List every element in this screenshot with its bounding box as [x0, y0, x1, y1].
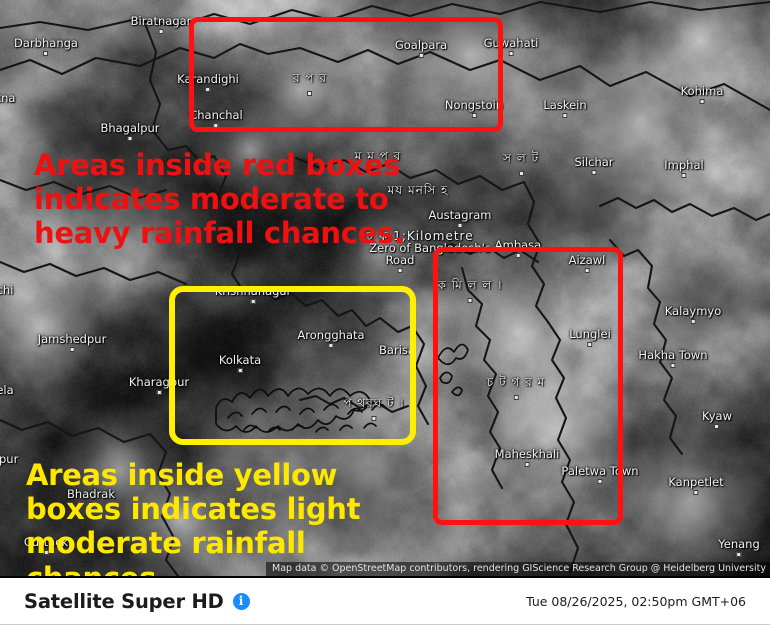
info-icon[interactable]: i	[233, 593, 250, 610]
map-footer-bar: Satellite Super HD i Tue 08/26/2025, 02:…	[0, 576, 770, 625]
page-title: Satellite Super HD	[24, 590, 224, 613]
timestamp-label: Tue 08/26/2025, 02:50pm GMT+06	[526, 594, 770, 609]
footer-left-group: Satellite Super HD i	[0, 590, 526, 613]
yellow-box-legend-annotation: Areas inside yellow boxes indicates ligh…	[26, 458, 426, 576]
red-box-legend-annotation: Areas inside red boxes indicates moderat…	[34, 148, 454, 251]
satellite-map-widget: BiratnagarDarbhangaGoalparaGuwahatiKohim…	[0, 0, 770, 625]
map-attribution: Map data © OpenStreetMap contributors, r…	[266, 562, 770, 576]
satellite-map[interactable]: BiratnagarDarbhangaGoalparaGuwahatiKohim…	[0, 0, 770, 576]
